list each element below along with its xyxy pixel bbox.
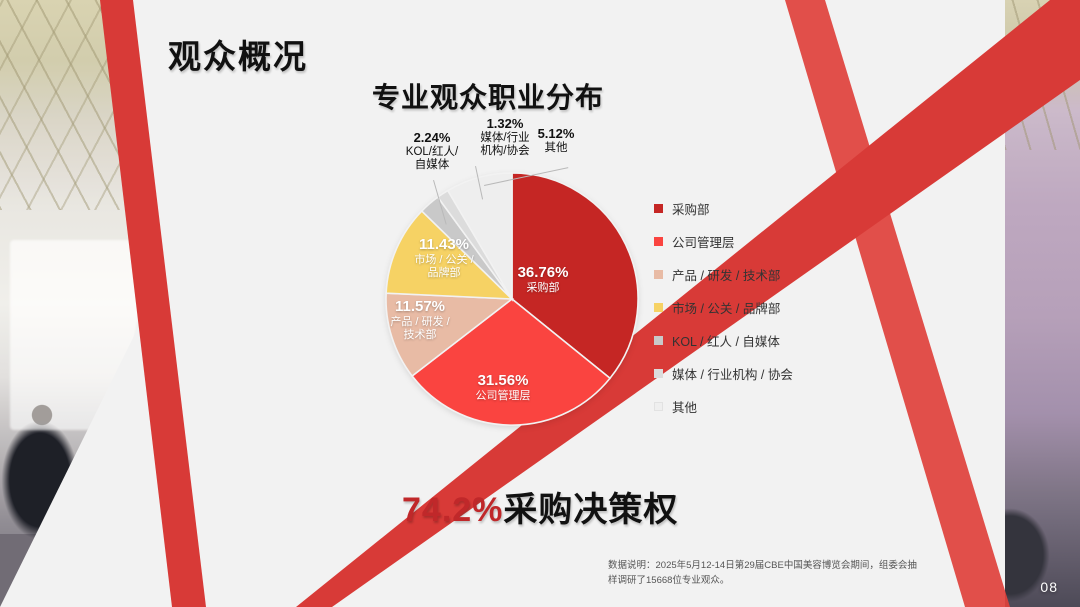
legend-label: 市场 / 公关 / 品牌部 [672,298,780,317]
legend-label: 采购部 [672,199,710,218]
page-title: 观众概况 [168,30,308,78]
callout-name-line1: KOL/红人/ [386,146,478,160]
legend-label: KOL / 红人 / 自媒体 [672,331,780,350]
headline-percentage: 74.2% [402,491,503,529]
legend-item[interactable]: 公司管理层 [654,225,834,258]
legend-swatch-media [654,369,663,378]
slide-root: Selling Family CHINA BEAUTY EXPO 观众概况 专业… [0,0,1080,607]
legend-item[interactable]: 产品 / 研发 / 技术部 [654,258,834,291]
callout-value: 2.24% [386,130,478,146]
callout-name-line2: 自媒体 [386,159,478,173]
legend-swatch-rnd [654,270,663,279]
chart-title: 专业观众职业分布 [372,76,604,116]
legend-swatch-procurement [654,204,663,213]
headline-text: 采购决策权 [503,491,678,529]
pie-chart [383,170,641,428]
legend-label: 产品 / 研发 / 技术部 [672,265,780,284]
legend-swatch-marketing [654,303,663,312]
footnote: 数据说明：2025年5月12-14日第29届CBE中国美容博览会期间，组委会抽样… [608,558,926,588]
callout-value: 5.12% [524,126,588,142]
legend-item[interactable]: 市场 / 公关 / 品牌部 [654,291,834,324]
headline: 74.2%采购决策权 [402,482,678,531]
legend-label: 媒体 / 行业机构 / 协会 [672,364,793,383]
legend-swatch-management [654,237,663,246]
pie-chart-svg [383,170,641,428]
callout-label-kol: 2.24% KOL/红人/ 自媒体 [386,130,478,173]
callout-label-other: 5.12% 其他 [524,126,588,155]
legend-item[interactable]: 其他 [654,390,834,423]
chart-legend: 采购部 公司管理层 产品 / 研发 / 技术部 市场 / 公关 / 品牌部 KO… [654,192,834,423]
legend-swatch-kol [654,336,663,345]
legend-item[interactable]: 采购部 [654,192,834,225]
page-number: 08 [1040,579,1058,595]
legend-swatch-other [654,402,663,411]
legend-item[interactable]: 媒体 / 行业机构 / 协会 [654,357,834,390]
legend-item[interactable]: KOL / 红人 / 自媒体 [654,324,834,357]
callout-name-line1: 其他 [524,142,588,156]
legend-label: 其他 [672,397,697,416]
legend-label: 公司管理层 [672,232,735,251]
